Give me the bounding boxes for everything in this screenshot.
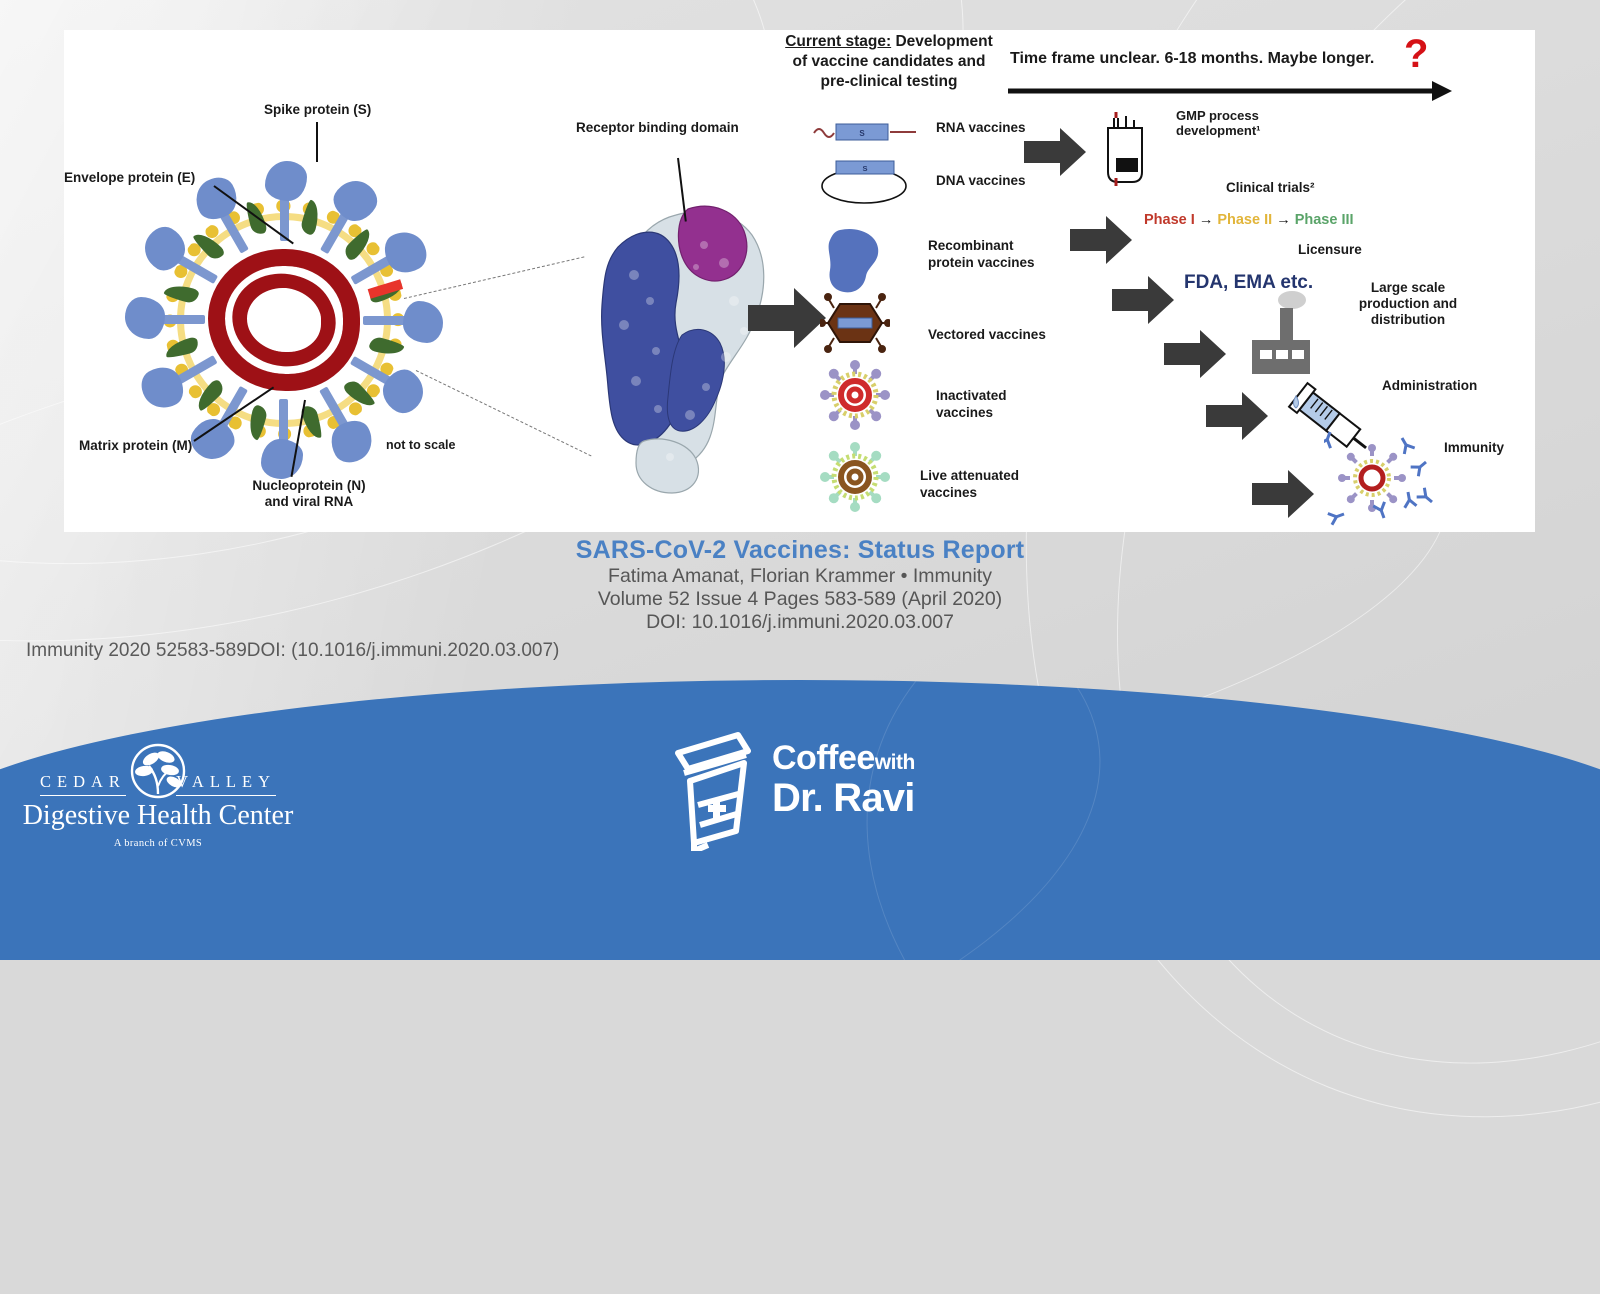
coffee-with-dr-ravi-logo: Coffeewith Dr. Ravi [660,725,990,855]
label-inactivated-line1: Inactivated [936,388,1007,405]
label-spike-protein: Spike protein (S) [264,102,371,118]
label-clinical-trials: Clinical trials² [1226,180,1315,196]
label-matrix-protein: Matrix protein (M) [79,438,192,454]
arrow-step-immunity-icon [1252,470,1314,518]
vaccines-heading-line1: Current stage: Development [764,32,1014,52]
coffee-line1: Coffeewith [772,741,915,775]
label-large-scale-production: Large scale production and distribution [1348,280,1468,328]
label-rna-vaccines: RNA vaccines [936,120,1026,137]
arrow-step-production-icon [1164,330,1226,378]
valley-word: VALLEY [176,772,276,796]
label-dna-vaccines: DNA vaccines [936,173,1026,190]
label-gmp-line1: GMP process [1176,108,1261,123]
svg-text:S: S [859,129,865,138]
label-inactivated-vaccines: Inactivated vaccines [936,388,1007,422]
coffee-main-word: Coffee [772,739,875,777]
label-gmp-process: GMP process development¹ [1176,108,1261,139]
phase-3-label: Phase III [1295,212,1354,228]
coffee-line2: Dr. Ravi [772,777,915,819]
label-administration: Administration [1382,378,1477,394]
label-recombinant-line2: protein vaccines [928,255,1035,272]
spike-trimer-icon [584,205,804,495]
arrow-step-licensure-icon [1112,276,1174,324]
inactivated-virion-icon [820,360,890,430]
label-production-line1: Large scale [1348,280,1468,296]
svg-text:S: S [862,164,867,173]
immune-response-icon [1324,426,1464,530]
label-recombinant-protein-vaccines: Recombinant protein vaccines [928,238,1035,272]
coffee-wordmark: Coffeewith Dr. Ravi [772,741,915,819]
label-live-attenuated-vaccines: Live attenuated vaccines [920,468,1019,502]
footer-reference: Immunity 2020 52583-589DOI: (10.1016/j.i… [26,640,559,662]
timeline-arrow-icon [1008,80,1452,102]
coffee-with-word: with [875,751,915,774]
cedar-valley-tagline: A branch of CVMS [18,838,298,849]
phase-2-label: Phase II [1217,212,1272,228]
arrow-step-administration-icon [1206,392,1268,440]
label-licensure: Licensure [1298,242,1362,258]
cedar-word: CEDAR [40,772,126,796]
cedar-valley-name: Digestive Health Center [18,800,298,832]
phase-arrow-icon: → [1276,212,1291,228]
label-gmp-line2: development¹ [1176,123,1261,138]
label-immunity: Immunity [1444,440,1504,456]
protein-blob-icon [824,228,882,294]
label-attenuated-line1: Live attenuated [920,468,1019,485]
question-mark-icon: ? [1404,34,1428,74]
viral-vector-icon [820,292,890,354]
vaccines-heading-line3: pre-clinical testing [764,72,1014,92]
rna-strand-icon: S [812,118,920,144]
label-attenuated-line2: vaccines [920,485,1019,502]
citation-authors: Fatima Amanat, Florian Krammer • Immunit… [0,565,1600,588]
arrow-step-clinical-trials-icon [1070,216,1132,264]
factory-icon [1242,288,1322,380]
virion-schematic [124,160,444,480]
vaccines-heading-line2: of vaccine candidates and [764,52,1014,72]
coffee-cup-icon [664,727,760,851]
bioreactor-icon [1096,112,1148,186]
label-nucleoprotein-line1: Nucleoprotein (N) [229,478,389,494]
label-production-line2: production and [1348,296,1468,312]
current-stage-emphasis: Current stage: [785,33,891,50]
citation-doi: DOI: 10.1016/j.immuni.2020.03.007 [0,611,1600,634]
leader-line-spike [316,122,318,162]
label-vectored-vaccines: Vectored vaccines [928,327,1046,344]
phase-1-label: Phase I [1144,212,1195,228]
label-nucleoprotein-line2: and viral RNA [229,494,389,510]
attenuated-virion-icon [820,442,890,512]
label-recombinant-line1: Recombinant [928,238,1035,255]
label-envelope-protein: Envelope protein (E) [64,170,195,186]
label-not-to-scale: not to scale [386,438,455,453]
label-production-line3: distribution [1348,312,1468,328]
plasmid-icon: S [812,158,916,206]
timeline-headline: Time frame unclear. 6-18 months. Maybe l… [1010,50,1374,69]
label-nucleoprotein: Nucleoprotein (N) and viral RNA [229,478,389,510]
arrow-step-gmp-icon [1024,128,1086,176]
spike-protein-structure [584,205,804,495]
current-stage-rest: Development [891,33,993,50]
vaccines-heading: Current stage: Development of vaccine ca… [764,32,1014,92]
arrow-to-vaccines-icon [748,288,826,348]
citation-volume: Volume 52 Issue 4 Pages 583-589 (April 2… [0,588,1600,611]
figure-panel: Spike protein (S) Envelope protein (E) M… [64,30,1535,532]
label-inactivated-line2: vaccines [936,405,1007,422]
phase-arrow-icon: → [1199,212,1214,228]
clinical-phases: Phase I → Phase II → Phase III [1144,212,1354,229]
label-receptor-binding-domain: Receptor binding domain [576,120,739,136]
page-title: SARS-CoV-2 Vaccines: Status Report [0,536,1600,565]
cedar-valley-logo: CEDAR VALLEY Digestive Health Center A b… [18,742,298,849]
citation-block: SARS-CoV-2 Vaccines: Status Report Fatim… [0,536,1600,634]
